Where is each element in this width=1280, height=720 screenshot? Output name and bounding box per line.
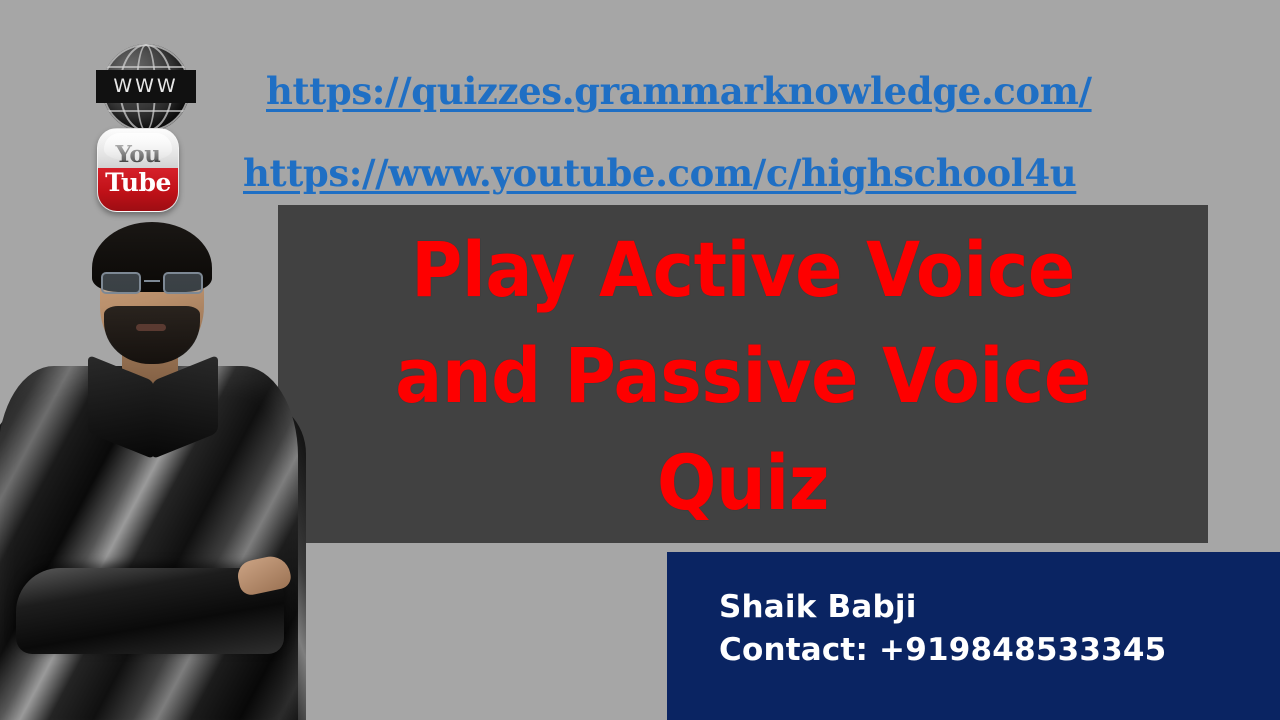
presenter-beard	[104, 306, 200, 364]
presenter-contact-number: Contact: +919848533345	[719, 629, 1280, 672]
glasses-icon	[100, 272, 204, 294]
youtube-icon[interactable]: You Tube	[88, 124, 188, 222]
youtube-link-row[interactable]: You Tube https://www.youtube.com/c/highs…	[88, 124, 1076, 222]
glasses-lens-left	[101, 272, 141, 294]
globe-www-band: WWW	[96, 70, 196, 103]
youtube-logo-bottom: Tube	[98, 168, 178, 211]
presenter-mouth	[136, 324, 166, 331]
youtube-logo-top: You	[98, 129, 178, 168]
globe-www-label: WWW	[113, 77, 178, 96]
website-url-link[interactable]: https://quizzes.grammarknowledge.com/	[266, 73, 1092, 110]
youtube-tile: You Tube	[97, 128, 179, 212]
glasses-bridge	[144, 280, 160, 282]
title-panel: Play Active Voice and Passive Voice Quiz	[278, 205, 1208, 543]
youtube-logo-you-text: You	[116, 143, 161, 166]
youtube-url-link[interactable]: https://www.youtube.com/c/highschool4u	[243, 155, 1076, 192]
presenter-photo	[0, 206, 302, 720]
presenter-name: Shaik Babji	[719, 586, 1280, 629]
youtube-logo-tube-text: Tube	[105, 170, 171, 195]
contact-box: Shaik Babji Contact: +919848533345	[667, 552, 1280, 720]
glasses-lens-right	[163, 272, 203, 294]
slide-canvas: Play Active Voice and Passive Voice Quiz	[0, 0, 1280, 720]
page-title: Play Active Voice and Passive Voice Quiz	[315, 217, 1171, 536]
